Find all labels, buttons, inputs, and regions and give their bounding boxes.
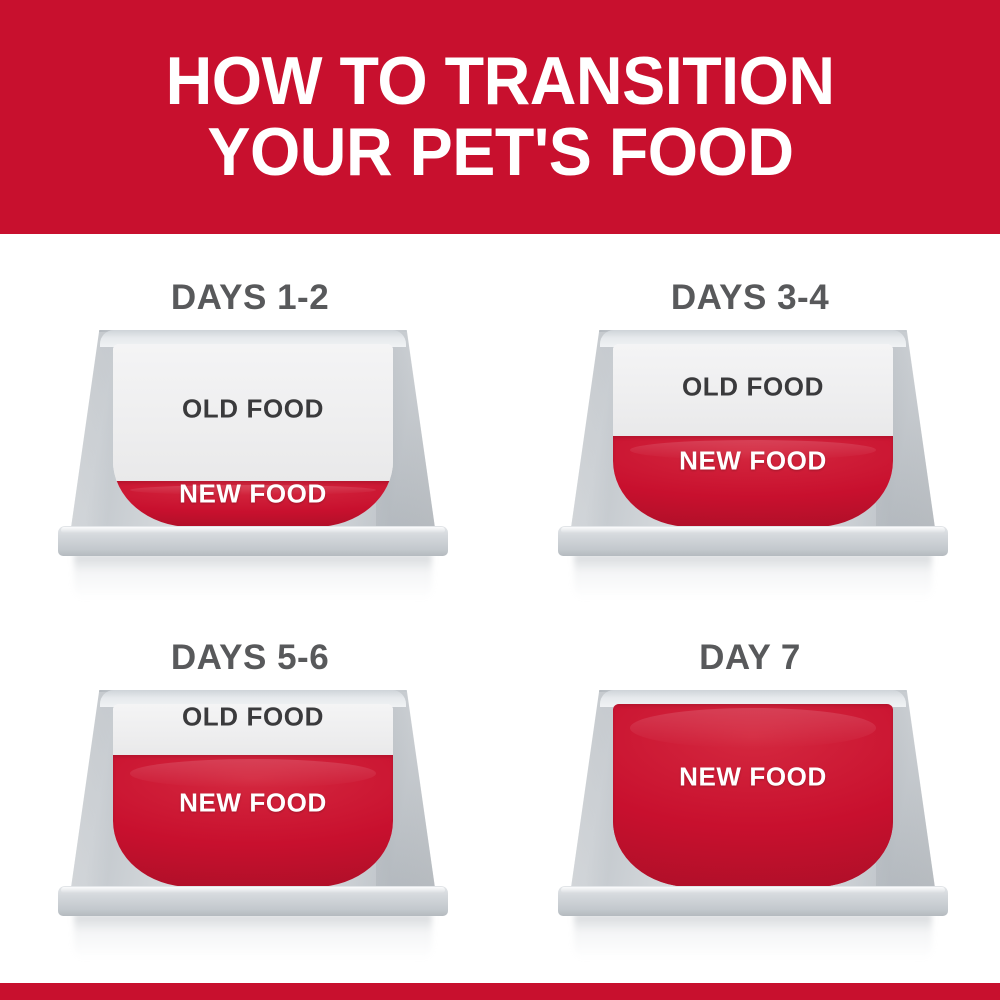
- infographic-page: HOW TO TRANSITION YOUR PET'S FOOD DAYS 1…: [0, 0, 1000, 1000]
- new-food-fill: NEW FOOD: [613, 436, 893, 528]
- bowl-food-well: OLD FOOD NEW FOOD: [613, 344, 893, 527]
- stage-caption-days-3-4: DAYS 3-4: [500, 278, 1000, 318]
- header-banner: HOW TO TRANSITION YOUR PET'S FOOD: [0, 0, 1000, 234]
- stage-card-days-3-4: DAYS 3-4 OLD FOOD NEW FOOD: [500, 250, 1000, 624]
- header-title-line-2: YOUR PET'S FOOD: [207, 117, 793, 188]
- bowl-shadow: [74, 914, 432, 960]
- new-food-label: NEW FOOD: [613, 762, 893, 793]
- old-food-label: OLD FOOD: [113, 704, 393, 733]
- stage-caption-days-1-2: DAYS 1-2: [0, 278, 500, 318]
- footer-bar: [0, 983, 1000, 1000]
- stage-card-day-7: DAY 7 OLD FOOD NEW FOOD: [500, 610, 1000, 984]
- old-food-label: OLD FOOD: [113, 393, 393, 424]
- bowl-grid: DAYS 1-2 OLD FOOD NEW FOOD: [0, 234, 1000, 983]
- stage-card-days-1-2: DAYS 1-2 OLD FOOD NEW FOOD: [0, 250, 500, 624]
- bowl-shadow: [574, 914, 932, 960]
- bowl-pedestal: [58, 526, 448, 556]
- header-title-line-1: HOW TO TRANSITION: [165, 46, 834, 117]
- new-food-label: NEW FOOD: [613, 446, 893, 477]
- food-bowl-day-7: OLD FOOD NEW FOOD: [558, 690, 948, 930]
- bowl-shadow: [74, 554, 432, 600]
- new-food-fill: NEW FOOD: [113, 481, 393, 527]
- old-food-fill: OLD FOOD: [613, 344, 893, 436]
- bowl-shadow: [574, 554, 932, 600]
- new-food-label: NEW FOOD: [113, 479, 393, 510]
- stage-card-days-5-6: DAYS 5-6 OLD FOOD NEW FOOD: [0, 610, 500, 984]
- new-food-fill: NEW FOOD: [113, 755, 393, 887]
- old-food-fill: OLD FOOD: [113, 344, 393, 481]
- stage-caption-days-5-6: DAYS 5-6: [0, 638, 500, 678]
- old-food-label: OLD FOOD: [613, 372, 893, 403]
- stage-caption-day-7: DAY 7: [500, 638, 1000, 678]
- bowl-pedestal: [558, 886, 948, 916]
- old-food-fill: OLD FOOD: [113, 704, 393, 755]
- bowl-pedestal: [558, 526, 948, 556]
- new-food-label: NEW FOOD: [113, 787, 393, 818]
- bowl-pedestal: [58, 886, 448, 916]
- new-food-fill: NEW FOOD: [613, 704, 893, 887]
- bowl-food-well: OLD FOOD NEW FOOD: [113, 704, 393, 887]
- bowl-food-well: OLD FOOD NEW FOOD: [113, 344, 393, 527]
- food-bowl-days-5-6: OLD FOOD NEW FOOD: [58, 690, 448, 930]
- food-bowl-days-1-2: OLD FOOD NEW FOOD: [58, 330, 448, 570]
- food-bowl-days-3-4: OLD FOOD NEW FOOD: [558, 330, 948, 570]
- bowl-food-well: OLD FOOD NEW FOOD: [613, 704, 893, 887]
